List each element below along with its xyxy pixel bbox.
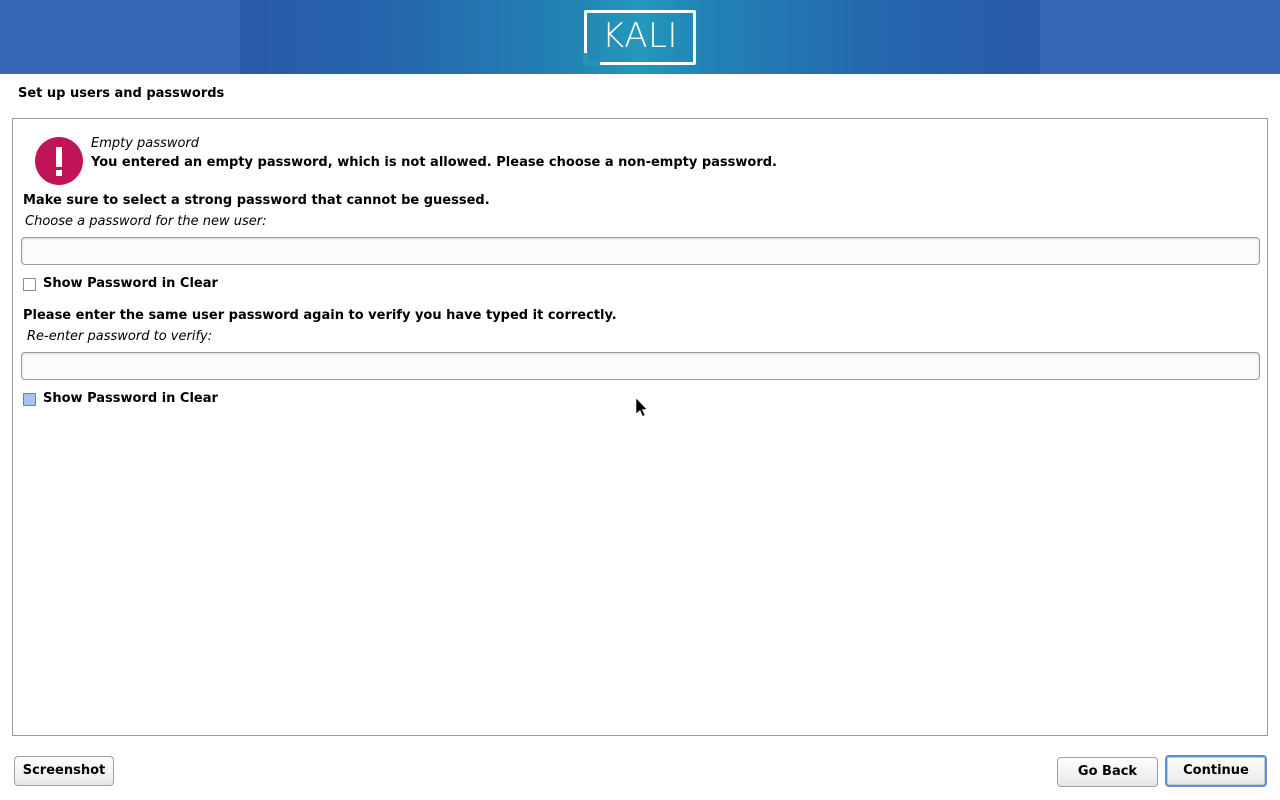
verify-field-label: Re-enter password to verify: [27, 329, 212, 344]
screenshot-button[interactable]: Screenshot [14, 756, 114, 786]
error-icon-dot [56, 170, 62, 176]
continue-button[interactable]: Continue [1165, 755, 1267, 787]
show-password-in-clear-checkbox-1[interactable] [23, 278, 36, 291]
verify-password-input[interactable] [21, 352, 1260, 380]
show-password-in-clear-label-1: Show Password in Clear [43, 276, 218, 291]
main-content-panel: Empty password You entered an empty pass… [12, 118, 1268, 736]
installer-screen: KALI Set up users and passwords Empty pa… [0, 0, 1280, 800]
show-password-in-clear-checkbox-2[interactable] [23, 393, 36, 406]
error-message: You entered an empty password, which is … [91, 155, 777, 170]
kali-logo-text: KALI [584, 10, 696, 65]
error-exclamation-icon [35, 137, 83, 185]
kali-logo: KALI [584, 10, 696, 65]
error-icon-stem [56, 147, 62, 167]
page-title: Set up users and passwords [18, 86, 224, 101]
password-input[interactable] [21, 237, 1260, 265]
error-title: Empty password [91, 136, 199, 151]
verify-section-heading: Please enter the same user password agai… [23, 308, 617, 323]
kali-banner: KALI [0, 0, 1280, 74]
password-section-heading: Make sure to select a strong password th… [23, 193, 490, 208]
show-password-in-clear-label-2: Show Password in Clear [43, 391, 218, 406]
go-back-button[interactable]: Go Back [1057, 757, 1158, 787]
password-field-label: Choose a password for the new user: [25, 214, 267, 229]
